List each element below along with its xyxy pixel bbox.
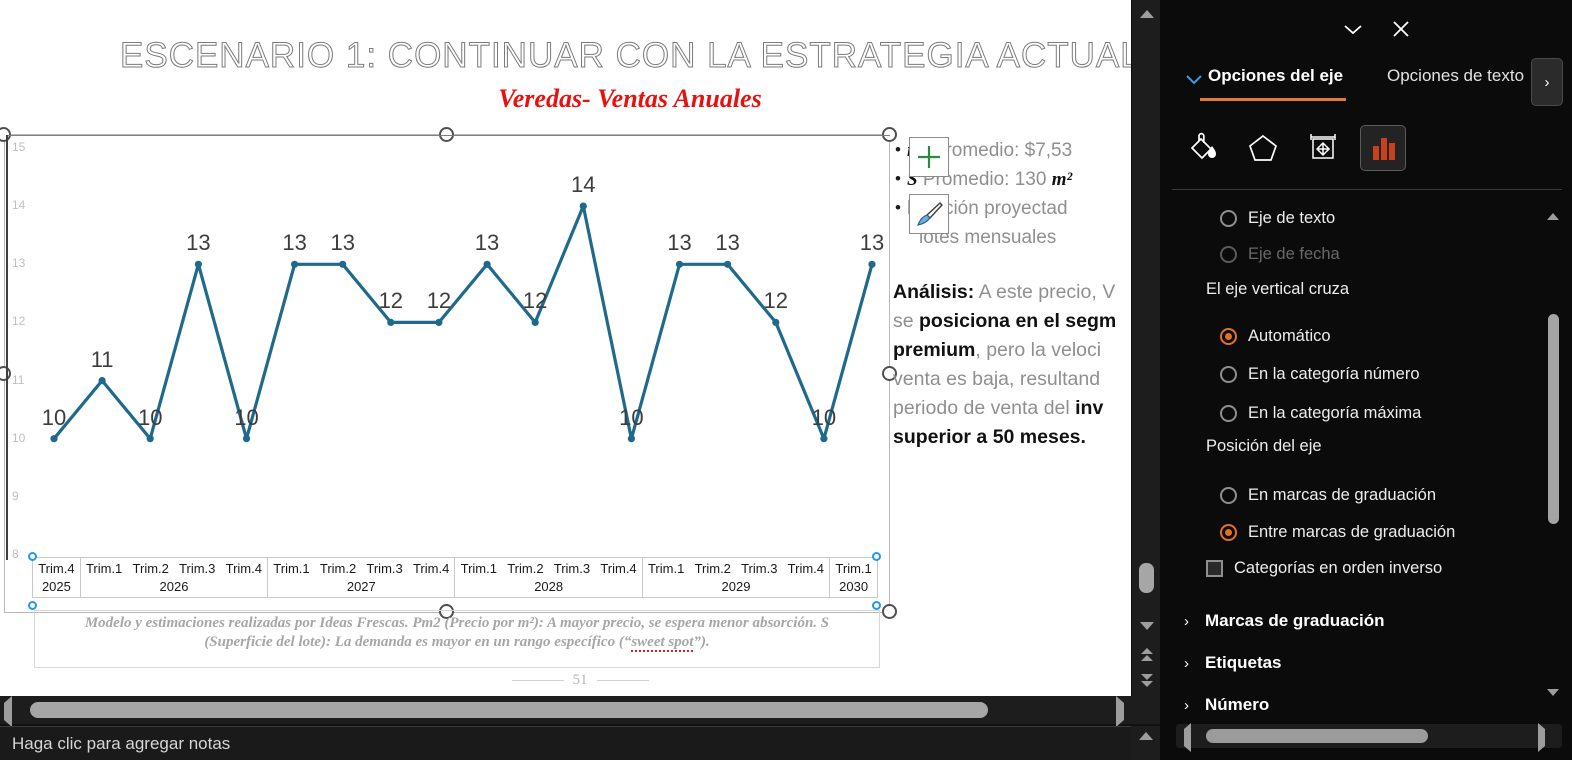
axis-options-icon[interactable] <box>1360 125 1406 171</box>
data-label-6: 13 <box>330 230 354 256</box>
size-and-properties-icon[interactable] <box>1300 125 1346 171</box>
year-label-2030: 2030 <box>830 577 878 598</box>
category-label-5: Trim.1 <box>268 558 315 578</box>
category-label-7: Trim.3 <box>361 558 408 578</box>
footnote-line-2a: (Superficie del lote): La demanda es may… <box>204 634 631 650</box>
analysis-line-4: venta es baja, resultand <box>893 365 1131 394</box>
category-label-0: Trim.4 <box>33 558 81 578</box>
radio-entre-marcas[interactable] <box>1220 524 1237 541</box>
option-eje-de-fecha: Eje de fecha <box>1220 241 1340 267</box>
axis-handle-bottom-left[interactable] <box>28 601 37 610</box>
category-label-6: Trim.2 <box>315 558 362 578</box>
data-label-8: 12 <box>427 288 451 314</box>
powerpoint-window: ESCENARIO 1: CONTINUAR CON LA ESTRATEGIA… <box>0 0 1572 760</box>
paint-bucket-icon <box>1186 131 1220 165</box>
option-en-marcas[interactable]: En marcas de graduación <box>1220 482 1436 508</box>
pane-scrollbar-thumb[interactable] <box>1548 314 1559 524</box>
data-point-13[interactable] <box>676 261 683 268</box>
label-eje-de-fecha: Eje de fecha <box>1248 245 1340 264</box>
axis-handle-top-right[interactable] <box>872 552 881 561</box>
chevron-right-icon-marcas: › <box>1184 613 1189 630</box>
option-categoria-numero[interactable]: En la categoría número <box>1220 361 1420 387</box>
axis-handle-bottom-right[interactable] <box>872 601 881 610</box>
bullet-1-text: Promedio: $7,53 <box>927 140 1072 161</box>
analysis-line-2: se posiciona en el segm <box>893 307 1131 336</box>
notes-placeholder[interactable]: Haga clic para agregar notas <box>12 734 230 754</box>
analysis-line-1-text: A este precio, V <box>974 281 1115 303</box>
data-label-5: 13 <box>282 230 306 256</box>
data-label-15: 12 <box>764 288 788 314</box>
section-label-numero: Número <box>1205 695 1269 715</box>
label-categoria-numero: En la categoría número <box>1248 365 1420 384</box>
data-point-3[interactable] <box>195 261 202 268</box>
section-marcas-de-graduacion[interactable]: › Marcas de graduación <box>1184 611 1385 631</box>
category-label-14: Trim.2 <box>689 558 736 578</box>
section-numero[interactable]: › Número <box>1184 695 1269 715</box>
data-label-13: 13 <box>667 230 691 256</box>
analysis-line-6: superior a 50 meses. <box>893 423 1131 452</box>
data-label-3: 13 <box>186 230 210 256</box>
active-tab-underline <box>1200 98 1346 101</box>
slide-number-rule-right <box>597 680 649 681</box>
chart-plot-area[interactable] <box>4 135 890 565</box>
analysis-paragraph: Análisis: A este precio, V se posiciona … <box>893 278 1131 452</box>
chevron-right-icon-etiquetas: › <box>1184 655 1189 672</box>
header-eje-vertical-cruza: El eje vertical cruza <box>1206 280 1349 299</box>
chevron-down-icon <box>1340 21 1366 37</box>
triangle-right-icon <box>1116 696 1124 727</box>
close-icon <box>1390 18 1412 40</box>
data-point-5[interactable] <box>291 261 298 268</box>
slide-number-footer: 51 <box>480 672 680 689</box>
option-categorias-orden-inverso[interactable]: Categorías en orden inverso <box>1206 555 1442 581</box>
series-markers <box>50 203 875 443</box>
category-label-12: Trim.4 <box>595 558 642 578</box>
category-label-8: Trim.4 <box>408 558 455 578</box>
slide-number-rule-left <box>512 680 564 681</box>
analysis-line-5b: inv <box>1075 397 1103 419</box>
header-posicion-del-eje: Posición del eje <box>1206 437 1322 456</box>
quarter-label-row: Trim.4Trim.1Trim.2Trim.3Trim.4Trim.1Trim… <box>33 558 878 578</box>
footnote-line-2: (Superficie del lote): La demanda es may… <box>35 633 879 652</box>
slide-horizontal-scrollbar[interactable] <box>0 696 1160 724</box>
year-label-2027: 2027 <box>268 577 455 598</box>
tab-overflow-button[interactable]: › <box>1531 58 1563 106</box>
section-label-marcas: Marcas de graduación <box>1205 611 1385 631</box>
triangle-down-icon <box>1140 622 1154 630</box>
data-label-12: 10 <box>619 405 643 431</box>
double-down-icon-a <box>1141 674 1153 680</box>
double-up-icon-b <box>1141 655 1153 661</box>
category-label-9: Trim.1 <box>455 558 502 578</box>
series-line[interactable] <box>54 206 872 439</box>
chevron-right-icon-numero: › <box>1184 697 1189 714</box>
pane-scroll-left-button[interactable] <box>1184 729 1191 747</box>
double-down-icon-b <box>1141 681 1153 687</box>
radio-categoria-numero[interactable] <box>1220 366 1237 383</box>
label-en-marcas: En marcas de graduación <box>1248 486 1436 505</box>
axis-tab-chevron-icon[interactable] <box>1184 72 1204 91</box>
analysis-line-5a: periodo de venta del <box>893 397 1075 419</box>
analysis-line-3b: , pero la veloci <box>975 339 1101 361</box>
pane-triangle-left-icon <box>1184 723 1191 752</box>
footnote-line-2c: ”). <box>693 634 709 650</box>
triangle-left-icon <box>4 696 12 727</box>
pane-triangle-right-icon <box>1538 723 1545 752</box>
data-point-15[interactable] <box>772 319 779 326</box>
pane-triangle-down-icon <box>1547 689 1559 713</box>
measure-box-icon <box>1306 131 1340 165</box>
label-categorias-orden-inverso: Categorías en orden inverso <box>1234 559 1442 578</box>
analysis-label: Análisis: <box>893 281 974 303</box>
year-label-2026: 2026 <box>80 577 267 598</box>
data-point-2[interactable] <box>147 435 154 442</box>
radio-eje-de-texto[interactable] <box>1220 210 1237 227</box>
year-label-2028: 2028 <box>455 577 642 598</box>
slide-text-block[interactable]: m² Promedio: $7,53 S Promedio: 130 m² bs… <box>893 136 1131 476</box>
pane-close-button[interactable] <box>1384 14 1418 44</box>
category-label-3: Trim.3 <box>174 558 221 578</box>
year-label-2029: 2029 <box>642 577 829 598</box>
data-point-7[interactable] <box>387 319 394 326</box>
year-label-row: 202520262027202820292030 <box>33 577 878 598</box>
pane-collapse-button[interactable] <box>1336 14 1370 44</box>
category-label-13: Trim.1 <box>642 558 689 578</box>
data-point-9[interactable] <box>484 261 491 268</box>
category-label-15: Trim.3 <box>736 558 783 578</box>
year-label-2025: 2025 <box>33 577 81 598</box>
data-point-0[interactable] <box>50 435 57 442</box>
analysis-line-3: premium, pero la veloci <box>893 336 1131 365</box>
category-label-11: Trim.3 <box>549 558 596 578</box>
slide-vertical-scrollbar[interactable] <box>1131 0 1160 696</box>
label-entre-marcas: Entre marcas de graduación <box>1248 523 1455 542</box>
analysis-line-2a: se <box>893 310 919 332</box>
data-point-12[interactable] <box>628 435 635 442</box>
data-label-2: 10 <box>138 405 162 431</box>
data-point-1[interactable] <box>99 377 106 384</box>
previous-slide-button[interactable] <box>1132 642 1161 666</box>
category-label-16: Trim.4 <box>783 558 830 578</box>
pane-title: Dar formato a eje <box>20 14 182 38</box>
section-label-etiquetas: Etiquetas <box>1205 653 1282 673</box>
notes-scrollbar[interactable] <box>1131 726 1160 760</box>
data-label-17: 13 <box>860 230 884 256</box>
data-label-16: 10 <box>812 405 836 431</box>
radio-automatico[interactable] <box>1220 328 1237 345</box>
slide-footnote[interactable]: Modelo y estimaciones realizadas por Ide… <box>34 610 880 668</box>
category-axis-table[interactable]: Trim.4Trim.1Trim.2Trim.3Trim.4Trim.1Trim… <box>32 557 878 598</box>
data-point-14[interactable] <box>724 261 731 268</box>
line-chart[interactable]: 15141312111098 1011101310131312121312141… <box>4 135 890 615</box>
scroll-up-button[interactable] <box>1132 2 1161 26</box>
data-point-8[interactable] <box>435 319 442 326</box>
pane-divider <box>1172 189 1562 190</box>
category-label-2: Trim.2 <box>127 558 174 578</box>
data-point-10[interactable] <box>532 319 539 326</box>
analysis-line-2b: posiciona en el segm <box>919 310 1116 332</box>
data-label-14: 13 <box>715 230 739 256</box>
bullet-2-symbol2: m² <box>1052 169 1072 190</box>
data-label-1: 11 <box>91 347 114 373</box>
section-etiquetas[interactable]: › Etiquetas <box>1184 653 1282 673</box>
data-point-4[interactable] <box>243 435 250 442</box>
category-label-10: Trim.2 <box>502 558 549 578</box>
paintbrush-icon <box>914 199 944 229</box>
option-entre-marcas[interactable]: Entre marcas de graduación <box>1220 519 1455 545</box>
data-point-6[interactable] <box>339 261 346 268</box>
analysis-line-3a: premium <box>893 339 975 361</box>
pane-triangle-up-icon <box>1547 196 1559 220</box>
tab-opciones-de-texto[interactable]: Opciones de texto <box>1387 66 1524 86</box>
plus-icon <box>914 142 944 172</box>
category-label-1: Trim.1 <box>80 558 127 578</box>
pane-h-scrollbar-thumb[interactable] <box>1206 729 1428 743</box>
data-point-11[interactable] <box>580 203 587 210</box>
data-label-11: 14 <box>571 172 595 198</box>
double-up-icon-a <box>1141 648 1153 654</box>
category-label-4: Trim.4 <box>220 558 267 578</box>
scrollbar-thumb[interactable] <box>1139 563 1154 593</box>
footnote-line-1: Modelo y estimaciones realizadas por Ide… <box>35 614 879 633</box>
chart-styles-button[interactable] <box>909 194 949 234</box>
data-label-0: 10 <box>42 405 66 431</box>
data-label-4: 10 <box>234 405 258 431</box>
fill-and-line-icon[interactable] <box>1180 125 1226 171</box>
slide-number-value: 51 <box>573 672 588 689</box>
notes-pane[interactable]: Haga clic para agregar notas <box>0 726 1160 760</box>
label-automatico: Automático <box>1248 327 1331 346</box>
radio-categoria-maxima[interactable] <box>1220 405 1237 422</box>
analysis-line-5: periodo de venta del inv <box>893 394 1131 423</box>
label-eje-de-texto: Eje de texto <box>1248 209 1335 228</box>
data-point-17[interactable] <box>868 261 875 268</box>
data-point-16[interactable] <box>820 435 827 442</box>
option-eje-de-texto[interactable]: Eje de texto <box>1220 205 1335 231</box>
radio-eje-de-fecha <box>1220 246 1237 263</box>
option-categoria-maxima[interactable]: En la categoría máxima <box>1220 400 1421 426</box>
scroll-down-button[interactable] <box>1132 614 1161 638</box>
effects-icon[interactable] <box>1240 125 1286 171</box>
chevron-down-small-icon <box>1184 72 1204 86</box>
h-scrollbar-thumb[interactable] <box>30 702 988 718</box>
scroll-left-button[interactable] <box>4 703 12 721</box>
triangle-up-icon <box>1140 10 1154 18</box>
option-automatico[interactable]: Automático <box>1220 323 1331 349</box>
radio-en-marcas[interactable] <box>1220 487 1237 504</box>
data-label-7: 12 <box>379 288 403 314</box>
slide-canvas[interactable]: ESCENARIO 1: CONTINUAR CON LA ESTRATEGIA… <box>0 0 1131 696</box>
pane-icon-tab-row <box>1180 125 1440 171</box>
pane-options-body: Eje de texto Eje de fecha El eje vertica… <box>1172 196 1562 716</box>
analysis-line-1: Análisis: A este precio, V <box>893 278 1131 307</box>
data-label-9: 13 <box>475 230 499 256</box>
category-label-17: Trim.1 <box>830 558 878 578</box>
slide-subtitle[interactable]: Veredas- Ventas Anuales <box>120 84 1131 114</box>
pentagon-icon <box>1246 131 1280 165</box>
footnote-misspelled-word: sweet spot <box>631 634 693 652</box>
slide-title[interactable]: ESCENARIO 1: CONTINUAR CON LA ESTRATEGIA… <box>120 36 1131 76</box>
next-slide-button[interactable] <box>1132 668 1161 692</box>
tab-opciones-del-eje[interactable]: Opciones del eje <box>1208 66 1343 86</box>
scroll-right-button[interactable] <box>1116 703 1124 721</box>
data-label-10: 12 <box>523 288 547 314</box>
chart-elements-button[interactable] <box>909 137 949 177</box>
pane-horizontal-scrollbar[interactable] <box>1176 724 1562 748</box>
pane-scroll-down-button[interactable] <box>1547 696 1559 714</box>
pane-scroll-up-button[interactable] <box>1547 196 1559 214</box>
pane-scroll-right-button[interactable] <box>1538 729 1545 747</box>
bar-chart-icon <box>1368 133 1398 163</box>
notes-scroll-up-icon[interactable] <box>1139 732 1153 740</box>
label-categoria-maxima: En la categoría máxima <box>1248 404 1421 423</box>
pane-vertical-scrollbar[interactable] <box>1545 196 1563 716</box>
checkbox-categorias-orden-inverso[interactable] <box>1206 560 1223 577</box>
axis-handle-top-left[interactable] <box>28 552 37 561</box>
